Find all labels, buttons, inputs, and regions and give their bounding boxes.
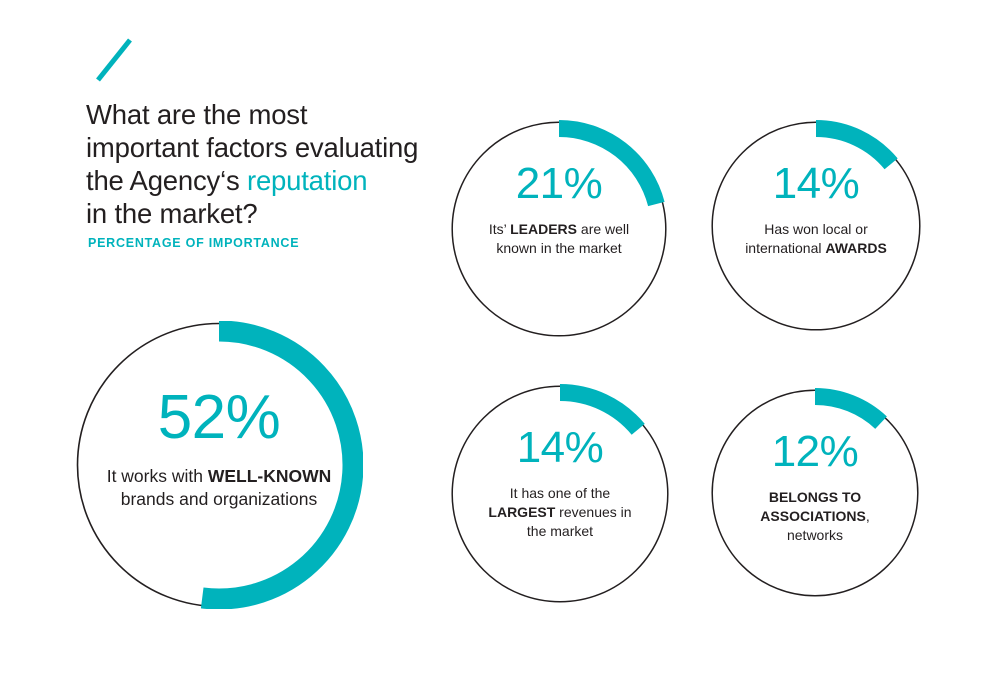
title-line-3-prefix: the Agency‘s [86, 165, 247, 196]
gauge-awards: 14% Has won local or international AWARD… [710, 120, 922, 332]
gauge-value-label: 21% [516, 162, 603, 206]
gauge-value-label: 52% [158, 387, 281, 449]
title-accent-word: reputation [247, 165, 367, 196]
gauge-leaders-well-known: 21% Its’ LEADERS are well known in the m… [450, 120, 668, 338]
subtitle: PERCENTAGE OF IMPORTANCE [88, 236, 299, 250]
gauge-caption: It works with WELL-KNOWN brands and orga… [104, 465, 334, 511]
gauge-caption: Has won local or international AWARDS [741, 220, 891, 258]
slash-mark-icon [88, 32, 144, 88]
gauge-caption: It has one of the LARGEST revenues in th… [485, 484, 635, 541]
infographic-canvas: What are the most important factors eval… [0, 0, 1000, 687]
gauge-caption: BELONGS TO ASSOCIATIONS, networks [740, 488, 890, 545]
title-line-1: What are the most [86, 99, 307, 130]
gauge-value-label: 12% [772, 430, 859, 474]
gauge-value-label: 14% [773, 162, 860, 206]
title-line-2: important factors evaluating [86, 132, 418, 163]
page-title: What are the most important factors eval… [86, 98, 486, 230]
gauge-largest-revenues: 14% It has one of the LARGEST revenues i… [450, 384, 670, 604]
gauge-caption: Its’ LEADERS are well known in the marke… [484, 220, 634, 258]
title-line-4: in the market? [86, 198, 257, 229]
gauge-associations: 12% BELONGS TO ASSOCIATIONS, networks [710, 388, 920, 598]
gauge-well-known-brands: 52% It works with WELL-KNOWN brands and … [75, 321, 363, 609]
gauge-value-label: 14% [517, 426, 604, 470]
